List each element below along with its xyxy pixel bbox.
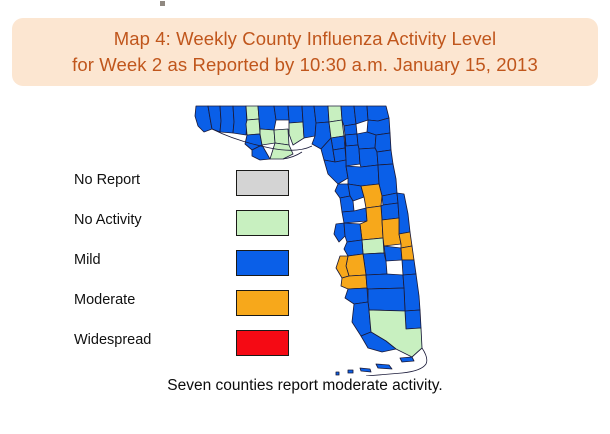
county-hamilton xyxy=(328,106,342,122)
county-highlands xyxy=(363,253,387,275)
keys-island-2 xyxy=(360,368,371,372)
county-st-lucie xyxy=(401,246,414,260)
county-monroe-keys xyxy=(400,357,414,362)
county-levy xyxy=(324,160,348,184)
county-putnam xyxy=(359,148,378,167)
slide-root: Map 4: Weekly County Influenza Activity … xyxy=(0,0,610,434)
county-st-johns xyxy=(375,133,391,152)
county-jackson xyxy=(258,106,276,130)
county-madison xyxy=(314,106,329,123)
county-calhoun xyxy=(260,129,275,145)
keys-island-4 xyxy=(336,372,339,375)
county-glades xyxy=(366,274,404,289)
county-okaloosa xyxy=(220,106,234,133)
county-osceola xyxy=(382,218,401,246)
county-okeechobee xyxy=(384,246,402,261)
stray-artifact-icon xyxy=(160,1,165,6)
county-wakulla xyxy=(289,122,304,145)
county-palm-beach xyxy=(403,274,420,311)
county-jefferson xyxy=(302,106,316,138)
county-flagler xyxy=(377,150,393,165)
legend-label-no-activity: No Activity xyxy=(74,212,142,228)
county-martin xyxy=(402,260,416,275)
map-caption: Seven counties report moderate activity. xyxy=(0,377,610,395)
county-lafayette xyxy=(331,136,345,150)
county-desoto xyxy=(346,254,366,276)
title-line-2: for Week 2 as Reported by 10:30 a.m. Jan… xyxy=(72,52,538,78)
county-broward xyxy=(405,310,421,329)
county-marion xyxy=(346,165,379,186)
legend-label-moderate: Moderate xyxy=(74,292,135,308)
county-washington xyxy=(246,119,260,135)
county-lake xyxy=(361,184,382,208)
county-union xyxy=(344,124,357,135)
legend-label-mild: Mild xyxy=(74,252,101,268)
county-holmes xyxy=(246,106,259,120)
county-suwannee xyxy=(329,120,344,138)
county-duval xyxy=(367,118,390,135)
county-orange xyxy=(381,203,399,220)
keys-island-3 xyxy=(348,370,353,373)
county-franklin xyxy=(270,143,293,159)
county-gadsden xyxy=(274,106,289,120)
county-baker xyxy=(354,106,368,124)
title-line-1: Map 4: Weekly County Influenza Activity … xyxy=(114,26,497,52)
county-hernando xyxy=(340,196,354,212)
county-columbia xyxy=(341,106,356,126)
keys-island-1 xyxy=(376,364,392,369)
county-collier xyxy=(352,302,371,336)
county-lee xyxy=(345,288,368,304)
florida-map xyxy=(190,96,510,376)
legend-label-no-report: No Report xyxy=(74,172,140,188)
county-indian-river xyxy=(399,232,412,248)
county-hillsborough xyxy=(344,223,362,242)
county-manatee xyxy=(344,240,363,256)
county-leon xyxy=(288,106,303,123)
county-liberty xyxy=(274,129,289,145)
county-clay xyxy=(357,132,376,149)
county-charlotte xyxy=(341,275,367,289)
county-hardee xyxy=(362,238,384,254)
county-pinellas xyxy=(334,223,345,242)
florida-map-svg xyxy=(190,96,510,376)
county-bradford xyxy=(345,134,358,146)
county-citrus xyxy=(335,184,350,198)
county-hendry xyxy=(368,288,405,311)
title-banner: Map 4: Weekly County Influenza Activity … xyxy=(12,18,598,86)
county-walton xyxy=(233,106,247,135)
county-gilchrist xyxy=(333,148,346,162)
legend-label-widespread: Widespread xyxy=(74,332,151,348)
